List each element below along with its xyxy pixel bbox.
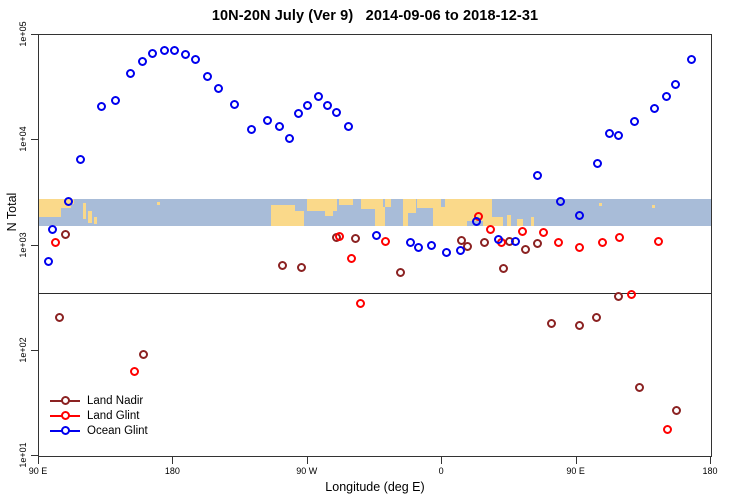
data-point	[275, 122, 284, 131]
data-point	[627, 290, 636, 299]
x-axis-tick-label: 90 E	[29, 466, 48, 476]
data-point	[521, 245, 530, 254]
data-point	[456, 246, 465, 255]
y-axis-tick	[31, 455, 38, 456]
land-mass	[375, 207, 385, 226]
data-point	[76, 155, 85, 164]
legend-label: Land Nadir	[87, 395, 143, 407]
data-point	[615, 233, 624, 242]
land-mass	[339, 199, 353, 205]
data-point	[663, 425, 672, 434]
land-mass	[83, 203, 86, 219]
data-point	[55, 313, 64, 322]
land-mass	[599, 203, 602, 206]
legend-marker-icon	[50, 395, 80, 407]
legend-item[interactable]: Ocean Glint	[50, 423, 180, 438]
data-point	[148, 49, 157, 58]
land-mass	[88, 211, 92, 223]
data-point	[303, 101, 312, 110]
land-mass	[507, 215, 511, 226]
y-axis-tick	[31, 245, 38, 246]
data-point	[592, 313, 601, 322]
data-point	[650, 104, 659, 113]
data-point	[138, 57, 147, 66]
data-point	[344, 122, 353, 131]
data-point	[494, 235, 503, 244]
data-point	[486, 225, 495, 234]
data-point	[181, 50, 190, 59]
data-point	[598, 238, 607, 247]
legend-label: Ocean Glint	[87, 425, 148, 437]
data-point	[533, 239, 542, 248]
data-point	[687, 55, 696, 64]
reference-line	[39, 293, 711, 294]
data-point	[191, 55, 200, 64]
data-point	[381, 237, 390, 246]
legend-marker-icon	[50, 410, 80, 422]
data-point	[575, 211, 584, 220]
data-point	[593, 159, 602, 168]
data-point	[170, 46, 179, 55]
data-point	[263, 116, 272, 125]
data-point	[130, 367, 139, 376]
data-point	[396, 268, 405, 277]
data-point	[314, 92, 323, 101]
world-map-strip	[39, 199, 711, 226]
x-axis-tick	[38, 457, 39, 464]
data-point	[323, 101, 332, 110]
land-mass	[157, 202, 160, 205]
x-axis-tick	[307, 457, 308, 464]
data-point	[533, 171, 542, 180]
data-point	[554, 238, 563, 247]
y-axis-tick	[31, 350, 38, 351]
data-point	[347, 254, 356, 263]
data-point	[556, 197, 565, 206]
data-point	[278, 261, 287, 270]
data-point	[511, 237, 520, 246]
scatter-plot-figure: 10N-20N July (Ver 9) 2014-09-06 to 2018-…	[0, 0, 750, 500]
data-point	[335, 232, 344, 241]
data-point	[230, 100, 239, 109]
data-point	[126, 69, 135, 78]
data-point	[297, 263, 306, 272]
data-point	[214, 84, 223, 93]
data-point	[605, 129, 614, 138]
y-axis-title: N Total	[5, 177, 19, 247]
land-mass	[652, 205, 655, 208]
data-point	[160, 46, 169, 55]
x-axis-tick	[441, 457, 442, 464]
legend-item[interactable]: Land Glint	[50, 408, 180, 423]
data-point	[97, 102, 106, 111]
data-point	[139, 350, 148, 359]
x-axis-tick	[172, 457, 173, 464]
data-point	[671, 80, 680, 89]
data-point	[499, 264, 508, 273]
data-point	[630, 117, 639, 126]
data-point	[203, 72, 212, 81]
data-point	[635, 383, 644, 392]
data-point	[51, 238, 60, 247]
data-point	[614, 292, 623, 301]
x-axis-tick	[576, 457, 577, 464]
data-point	[547, 319, 556, 328]
legend-marker-icon	[50, 425, 80, 437]
data-point	[575, 321, 584, 330]
x-axis-tick-label: 180	[165, 466, 180, 476]
data-point	[575, 243, 584, 252]
data-point	[518, 227, 527, 236]
land-mass	[325, 209, 333, 216]
land-mass	[445, 199, 467, 226]
data-point	[351, 234, 360, 243]
x-axis-tick-label: 90 E	[566, 466, 585, 476]
x-axis-title: Longitude (deg E)	[0, 480, 750, 494]
data-point	[427, 241, 436, 250]
data-point	[48, 225, 57, 234]
x-axis-tick-label: 90 W	[296, 466, 317, 476]
data-point	[614, 131, 623, 140]
land-mass	[408, 199, 416, 213]
land-mass	[271, 205, 295, 226]
land-mass	[94, 217, 97, 224]
data-point	[356, 299, 365, 308]
data-point	[480, 238, 489, 247]
data-point	[61, 230, 70, 239]
data-point	[332, 108, 341, 117]
y-axis-tick	[31, 139, 38, 140]
legend-label: Land Glint	[87, 410, 139, 422]
data-point	[247, 125, 256, 134]
land-mass	[295, 211, 304, 226]
x-axis-tick-label: 180	[702, 466, 717, 476]
land-mass	[531, 217, 534, 226]
land-mass	[517, 219, 523, 226]
data-point	[672, 406, 681, 415]
x-axis-tick	[710, 457, 711, 464]
data-point	[44, 257, 53, 266]
land-mass	[39, 199, 61, 217]
data-point	[414, 243, 423, 252]
data-point	[294, 109, 303, 118]
data-point	[539, 228, 548, 237]
data-point	[662, 92, 671, 101]
y-axis-tick	[31, 34, 38, 35]
data-point	[111, 96, 120, 105]
data-point	[285, 134, 294, 143]
legend-item[interactable]: Land Nadir	[50, 393, 180, 408]
legend: Land NadirLand GlintOcean Glint	[50, 393, 180, 438]
data-point	[654, 237, 663, 246]
data-point	[372, 231, 381, 240]
data-point	[442, 248, 451, 257]
land-mass	[385, 199, 391, 207]
x-axis-tick-label: 0	[439, 466, 444, 476]
page-title: 10N-20N July (Ver 9) 2014-09-06 to 2018-…	[0, 8, 750, 24]
